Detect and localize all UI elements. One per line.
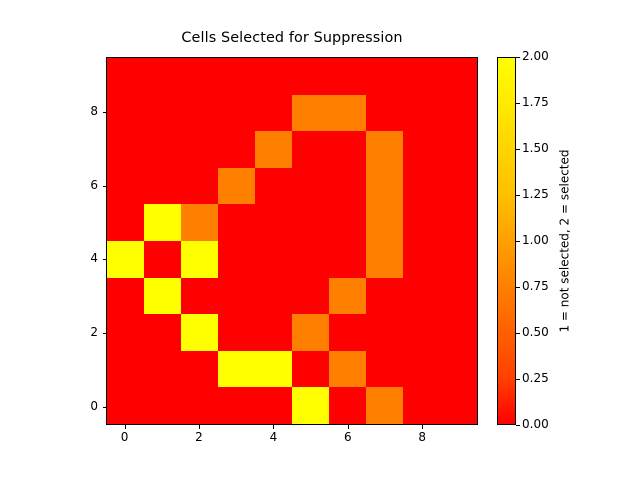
heatmap-cell[interactable]	[366, 387, 403, 424]
heatmap-cell[interactable]	[107, 95, 144, 132]
page-title: Cells Selected for Suppression	[106, 30, 478, 46]
heatmap-cell[interactable]	[440, 204, 477, 241]
heatmap-cell[interactable]	[144, 95, 181, 132]
colorbar-tick-label: 0.00	[522, 417, 549, 431]
heatmap-cell[interactable]	[144, 278, 181, 315]
colorbar-tick-label: 1.50	[522, 141, 549, 155]
heatmap-cell[interactable]	[107, 278, 144, 315]
heatmap-cell[interactable]	[329, 204, 366, 241]
y-tick-label: 4	[62, 251, 98, 265]
heatmap-cell[interactable]	[329, 95, 366, 132]
heatmap-grid	[107, 58, 477, 424]
heatmap-cell[interactable]	[255, 241, 292, 278]
heatmap-cell[interactable]	[181, 241, 218, 278]
heatmap-cell[interactable]	[329, 278, 366, 315]
heatmap-cell[interactable]	[440, 168, 477, 205]
x-tick-mark	[199, 425, 200, 429]
colorbar-tick-label: 1.25	[522, 187, 549, 201]
heatmap-cell[interactable]	[218, 387, 255, 424]
x-tick-mark	[422, 425, 423, 429]
heatmap-cell[interactable]	[144, 241, 181, 278]
heatmap-cell[interactable]	[181, 351, 218, 388]
colorbar-tick-label: 0.25	[522, 371, 549, 385]
heatmap-cell[interactable]	[218, 168, 255, 205]
y-tick-mark	[103, 112, 107, 113]
heatmap-cell[interactable]	[181, 387, 218, 424]
colorbar-tick-mark	[516, 287, 520, 288]
heatmap-cell[interactable]	[366, 204, 403, 241]
heatmap-cell[interactable]	[255, 58, 292, 95]
heatmap-cell[interactable]	[107, 58, 144, 95]
heatmap-cell[interactable]	[329, 387, 366, 424]
heatmap-cell[interactable]	[144, 204, 181, 241]
heatmap-cell[interactable]	[292, 387, 329, 424]
heatmap-cell[interactable]	[292, 58, 329, 95]
y-tick-mark	[103, 407, 107, 408]
heatmap-cell[interactable]	[403, 351, 440, 388]
heatmap-cell[interactable]	[292, 351, 329, 388]
y-tick-label: 8	[62, 104, 98, 118]
heatmap-cell[interactable]	[107, 351, 144, 388]
heatmap-cell[interactable]	[329, 168, 366, 205]
heatmap-cell[interactable]	[144, 131, 181, 168]
y-tick-mark	[103, 333, 107, 334]
heatmap-cell[interactable]	[255, 131, 292, 168]
colorbar-tick-label: 1.75	[522, 95, 549, 109]
heatmap-cell[interactable]	[107, 314, 144, 351]
colorbar-tick-mark	[516, 57, 520, 58]
heatmap-cell[interactable]	[366, 241, 403, 278]
x-tick-mark	[348, 425, 349, 429]
y-tick-label: 6	[62, 178, 98, 192]
heatmap-cell[interactable]	[366, 168, 403, 205]
colorbar-axis-label: 1 = not selected, 2 = selected	[556, 57, 574, 425]
heatmap-cell[interactable]	[329, 58, 366, 95]
heatmap-cell[interactable]	[144, 58, 181, 95]
x-tick-mark	[125, 425, 126, 429]
heatmap-cell[interactable]	[403, 387, 440, 424]
heatmap-cell[interactable]	[440, 351, 477, 388]
colorbar-tick-label: 1.00	[522, 233, 549, 247]
heatmap-cell[interactable]	[440, 387, 477, 424]
heatmap-cell[interactable]	[218, 95, 255, 132]
colorbar-tick-mark	[516, 149, 520, 150]
heatmap-cell[interactable]	[329, 131, 366, 168]
heatmap-cell[interactable]	[181, 314, 218, 351]
colorbar-tick-mark	[516, 195, 520, 196]
heatmap-cell[interactable]	[403, 168, 440, 205]
heatmap-cell[interactable]	[440, 58, 477, 95]
matplotlib-figure: Cells Selected for Suppression 02468 024…	[0, 0, 640, 480]
heatmap-cell[interactable]	[144, 168, 181, 205]
heatmap-cell[interactable]	[366, 351, 403, 388]
heatmap-cell[interactable]	[181, 168, 218, 205]
heatmap-cell[interactable]	[440, 278, 477, 315]
y-tick-label: 0	[62, 399, 98, 413]
x-tick-mark	[273, 425, 274, 429]
heatmap-cell[interactable]	[107, 387, 144, 424]
colorbar-gradient	[497, 57, 516, 425]
colorbar-tick-mark	[516, 379, 520, 380]
heatmap-cell[interactable]	[403, 314, 440, 351]
heatmap-cell[interactable]	[107, 168, 144, 205]
heatmap-cell[interactable]	[181, 95, 218, 132]
colorbar-tick-mark	[516, 425, 520, 426]
heatmap-cell[interactable]	[366, 95, 403, 132]
heatmap-cell[interactable]	[292, 314, 329, 351]
colorbar-label-text: 1 = not selected, 2 = selected	[558, 149, 572, 332]
heatmap-cell[interactable]	[255, 95, 292, 132]
heatmap-cell[interactable]	[181, 131, 218, 168]
heatmap-cell[interactable]	[181, 278, 218, 315]
y-tick-mark	[103, 186, 107, 187]
heatmap-cell[interactable]	[366, 314, 403, 351]
heatmap-cell[interactable]	[292, 241, 329, 278]
heatmap-cell[interactable]	[255, 387, 292, 424]
heatmap-cell[interactable]	[218, 204, 255, 241]
colorbar-tick-mark	[516, 103, 520, 104]
heatmap-cell[interactable]	[329, 314, 366, 351]
y-tick-label: 2	[62, 325, 98, 339]
heatmap-cell[interactable]	[403, 278, 440, 315]
colorbar-tick-label: 0.75	[522, 279, 549, 293]
heatmap-cell[interactable]	[403, 131, 440, 168]
heatmap-cell[interactable]	[107, 204, 144, 241]
heatmap-cell[interactable]	[255, 204, 292, 241]
colorbar-tick-mark	[516, 241, 520, 242]
heatmap-cell[interactable]	[181, 204, 218, 241]
heatmap-cell[interactable]	[107, 131, 144, 168]
heatmap-cell[interactable]	[329, 241, 366, 278]
heatmap-cell[interactable]	[255, 278, 292, 315]
x-tick-label: 2	[179, 430, 219, 444]
heatmap-cell[interactable]	[403, 204, 440, 241]
heatmap-cell[interactable]	[366, 131, 403, 168]
x-tick-label: 4	[253, 430, 293, 444]
heatmap-cell[interactable]	[218, 351, 255, 388]
heatmap-cell[interactable]	[107, 241, 144, 278]
heatmap-cell[interactable]	[366, 58, 403, 95]
heatmap-cell[interactable]	[218, 58, 255, 95]
heatmap-cell[interactable]	[144, 351, 181, 388]
heatmap-cell[interactable]	[366, 278, 403, 315]
heatmap-cell[interactable]	[218, 278, 255, 315]
heatmap-cell[interactable]	[440, 314, 477, 351]
heatmap-axes[interactable]	[106, 57, 478, 425]
heatmap-cell[interactable]	[218, 131, 255, 168]
colorbar-tick-label: 0.50	[522, 325, 549, 339]
heatmap-cell[interactable]	[292, 168, 329, 205]
heatmap-cell[interactable]	[144, 314, 181, 351]
colorbar-tick-mark	[516, 333, 520, 334]
heatmap-cell[interactable]	[440, 131, 477, 168]
heatmap-cell[interactable]	[292, 95, 329, 132]
x-tick-label: 8	[402, 430, 442, 444]
heatmap-cell[interactable]	[403, 58, 440, 95]
heatmap-cell[interactable]	[292, 131, 329, 168]
heatmap-cell[interactable]	[329, 351, 366, 388]
heatmap-cell[interactable]	[403, 95, 440, 132]
heatmap-cell[interactable]	[218, 314, 255, 351]
heatmap-cell[interactable]	[292, 204, 329, 241]
heatmap-cell[interactable]	[255, 168, 292, 205]
heatmap-cell[interactable]	[255, 351, 292, 388]
heatmap-cell[interactable]	[440, 241, 477, 278]
heatmap-cell[interactable]	[255, 314, 292, 351]
x-tick-label: 6	[328, 430, 368, 444]
y-tick-mark	[103, 259, 107, 260]
heatmap-cell[interactable]	[403, 241, 440, 278]
heatmap-cell[interactable]	[440, 95, 477, 132]
heatmap-cell[interactable]	[181, 58, 218, 95]
heatmap-cell[interactable]	[292, 278, 329, 315]
heatmap-cell[interactable]	[144, 387, 181, 424]
heatmap-cell[interactable]	[218, 241, 255, 278]
colorbar-tick-label: 2.00	[522, 49, 549, 63]
x-tick-label: 0	[105, 430, 145, 444]
